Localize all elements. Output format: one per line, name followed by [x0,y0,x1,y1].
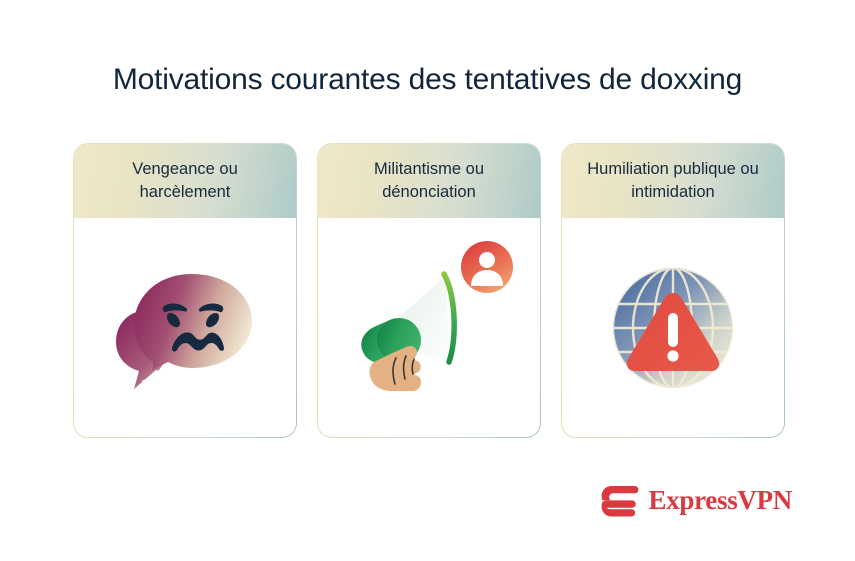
card-activism-heading: Militantisme ou dénonciation [332,158,526,205]
globe-warning-icon [598,258,748,398]
card-humiliation-heading: Humiliation publique ou intimidation [576,158,770,205]
expressvpn-logo-mark [601,483,639,517]
card-humiliation-header: Humiliation publique ou intimidation [562,144,784,218]
card-revenge-body [74,218,296,437]
card-humiliation-body [562,218,784,437]
card-revenge-header: Vengeance ou harcèlement [74,144,296,218]
card-revenge-heading: Vengeance ou harcèlement [88,158,282,205]
card-humiliation: Humiliation publique ou intimidation [561,143,785,438]
expressvpn-logo: ExpressVPN [601,483,792,517]
card-revenge: Vengeance ou harcèlement [73,143,297,438]
angry-bubble-shape [134,274,252,370]
card-activism-header: Militantisme ou dénonciation [318,144,540,218]
angry-speech-bubble-icon [110,258,260,398]
expressvpn-wordmark: ExpressVPN [648,487,792,514]
person-avatar-icon [460,240,514,294]
card-row: Vengeance ou harcèlement [73,143,785,438]
infographic-root: Motivations courantes des tentatives de … [0,0,855,561]
card-activism-body [318,218,540,437]
page-title: Motivations courantes des tentatives de … [0,62,855,98]
card-activism: Militantisme ou dénonciation [317,143,541,438]
